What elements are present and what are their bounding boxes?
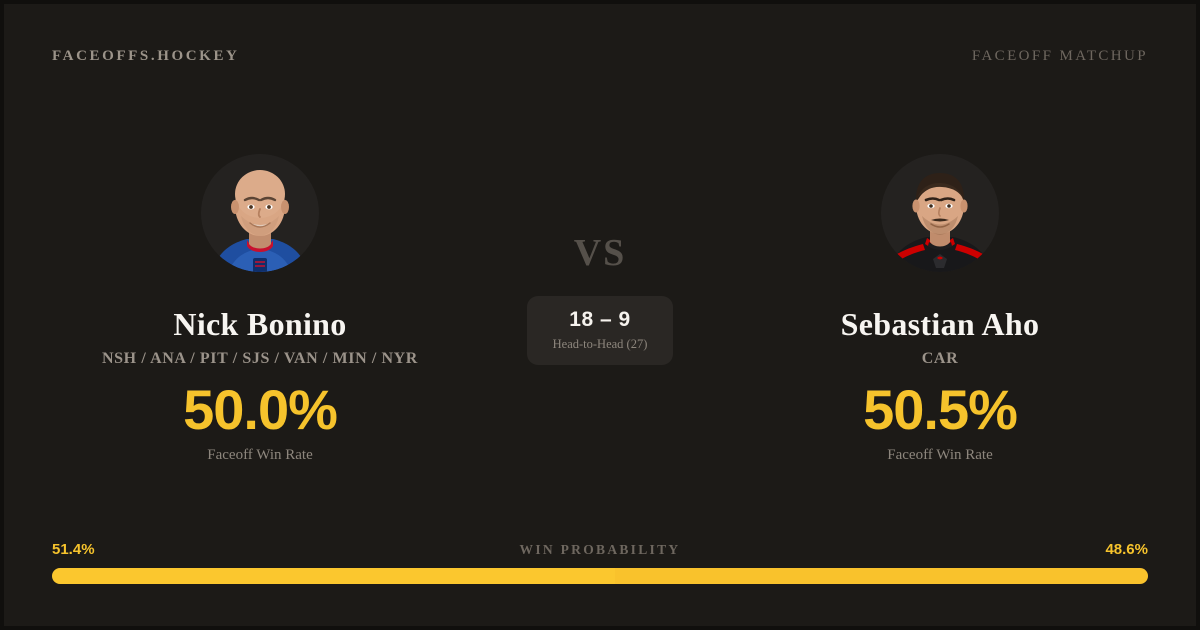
player-faceoff-win-rate-label: Faceoff Win Rate: [207, 447, 312, 464]
page-kicker: FACEOFF MATCHUP: [972, 48, 1148, 65]
head-to-head-label: Head-to-Head (27): [553, 338, 648, 351]
player-faceoff-win-rate: 50.0%: [183, 382, 337, 438]
win-probability-left-value: 51.4%: [52, 542, 95, 557]
matchup-row: Nick Bonino NSH / ANA / PIT / SJS / VAN …: [4, 154, 1196, 464]
win-probability-values: 51.4% WIN PROBABILITY 48.6%: [52, 542, 1148, 557]
player-name: Nick Bonino: [173, 308, 346, 342]
player-card-right[interactable]: Sebastian Aho CAR 50.5% Faceoff Win Rate: [725, 154, 1155, 464]
versus-label: VS: [574, 234, 627, 272]
player-faceoff-win-rate-label: Faceoff Win Rate: [887, 447, 992, 464]
player-teams: CAR: [922, 350, 958, 368]
player-headshot-aho: [881, 154, 999, 272]
win-probability-right-value: 48.6%: [1105, 542, 1148, 557]
faceoff-matchup-card: FACEOFFS.HOCKEY FACEOFF MATCHUP: [0, 0, 1200, 630]
player-card-left[interactable]: Nick Bonino NSH / ANA / PIT / SJS / VAN …: [45, 154, 475, 464]
player-name: Sebastian Aho: [841, 308, 1040, 342]
player-headshot-bonino: [201, 154, 319, 272]
player-faceoff-win-rate: 50.5%: [863, 382, 1017, 438]
win-probability-fill-right: [615, 568, 1148, 584]
head-to-head-score: 18 – 9: [569, 309, 630, 330]
site-brand[interactable]: FACEOFFS.HOCKEY: [52, 48, 239, 65]
win-probability-label: WIN PROBABILITY: [52, 543, 1148, 557]
player-teams: NSH / ANA / PIT / SJS / VAN / MIN / NYR: [102, 350, 418, 368]
page-header: FACEOFFS.HOCKEY FACEOFF MATCHUP: [4, 4, 1196, 108]
win-probability-bar[interactable]: [52, 568, 1148, 584]
win-probability-section: 51.4% WIN PROBABILITY 48.6%: [52, 542, 1148, 584]
win-probability-fill-left: [52, 568, 615, 584]
versus-block: VS 18 – 9 Head-to-Head (27): [475, 154, 725, 365]
head-to-head-card[interactable]: 18 – 9 Head-to-Head (27): [527, 296, 674, 365]
